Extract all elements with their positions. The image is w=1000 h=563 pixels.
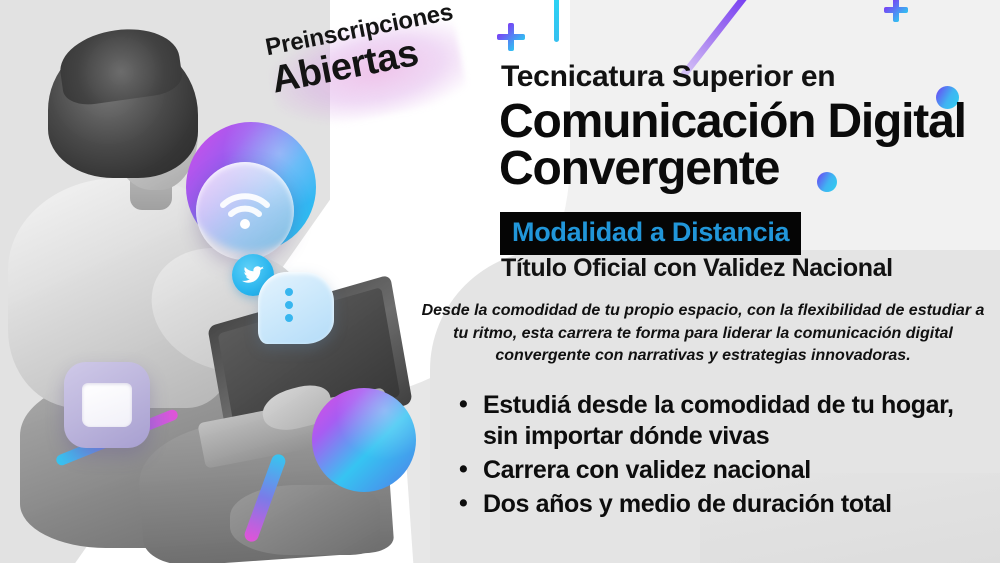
benefits-list: Estudiá desde la comodidad de tu hogar, … — [455, 390, 995, 523]
official-title-text: Título Oficial con Validez Nacional — [501, 254, 893, 283]
title-line-1: Comunicación Digital — [499, 95, 966, 148]
promotional-poster: Preinscripciones Abiertas Tecnicatura Su… — [0, 0, 1000, 563]
title-line-2: Convergente — [499, 145, 966, 192]
modality-badge-label: Modalidad a Distancia — [512, 217, 789, 247]
eyebrow-text: Tecnicatura Superior en — [501, 60, 835, 94]
description-paragraph: Desde la comodidad de tu propio espacio,… — [418, 300, 988, 368]
list-item: Carrera con validez nacional — [455, 455, 995, 486]
text-content: Tecnicatura Superior en Comunicación Dig… — [0, 0, 1000, 563]
page-title: Comunicación Digital Convergente — [499, 98, 966, 192]
list-item: Estudiá desde la comodidad de tu hogar, … — [455, 390, 995, 452]
modality-badge: Modalidad a Distancia — [500, 212, 801, 255]
list-item: Dos años y medio de duración total — [455, 489, 995, 520]
